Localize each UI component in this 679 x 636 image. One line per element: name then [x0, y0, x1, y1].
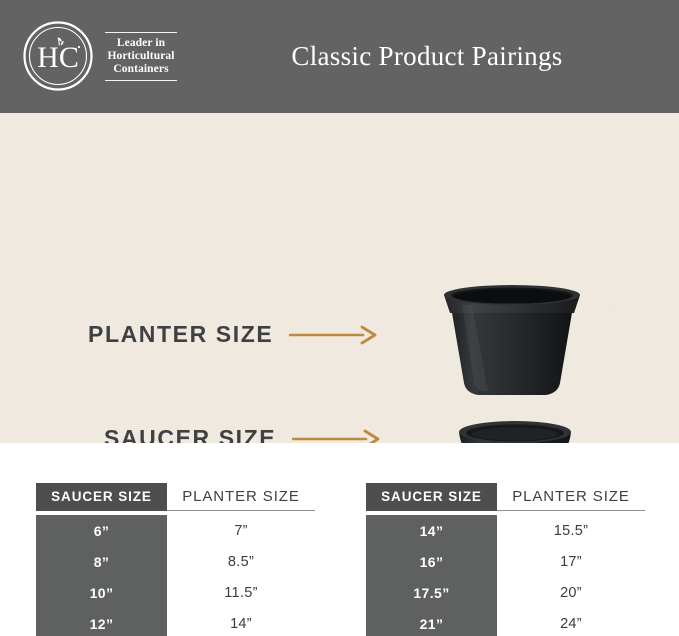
svg-text:HC: HC [37, 41, 79, 74]
brand-tagline-line-1: Leader in [107, 37, 174, 50]
cell-saucer-size: 6” [36, 515, 167, 546]
table-header-row: SAUCER SIZE PLANTER SIZE [36, 483, 315, 511]
saucer-dish-image [455, 418, 575, 443]
cell-saucer-size: 14” [366, 515, 497, 546]
brand-tagline-line-3: Containers [107, 63, 174, 76]
cell-saucer-size: 21” [366, 608, 497, 636]
cell-saucer-size: 8” [36, 546, 167, 577]
cell-saucer-size: 17.5” [366, 577, 497, 608]
brand-rule-bottom [105, 80, 177, 81]
table-row: 14” 15.5” [366, 515, 645, 546]
cell-saucer-size: 16” [366, 546, 497, 577]
size-table-right: SAUCER SIZE PLANTER SIZE 14” 15.5” 16” 1… [366, 483, 645, 636]
cell-planter-size: 14” [167, 608, 315, 636]
callout-saucer: SAUCER SIZE [104, 425, 382, 443]
brand-rule-top [105, 32, 177, 33]
header-bar: HC Leader in Horticultural Containers [0, 0, 679, 113]
pairings-table: SAUCER SIZE PLANTER SIZE 6” 7” 8” 8.5” [36, 483, 315, 636]
cell-saucer-size: 12” [36, 608, 167, 636]
hero-panel: PLANTER SIZE SAUCER SIZE [0, 113, 679, 443]
table-row: 17.5” 20” [366, 577, 645, 608]
product-pairings-infographic: HC Leader in Horticultural Containers [0, 0, 679, 636]
column-header-saucer-size: SAUCER SIZE [36, 483, 167, 511]
cell-planter-size: 15.5” [497, 515, 645, 546]
cell-planter-size: 8.5” [167, 546, 315, 577]
table-row: 16” 17” [366, 546, 645, 577]
cell-planter-size: 20” [497, 577, 645, 608]
column-header-saucer-size: SAUCER SIZE [366, 483, 497, 511]
cell-planter-size: 17” [497, 546, 645, 577]
size-table-left: SAUCER SIZE PLANTER SIZE 6” 7” 8” 8.5” [36, 483, 315, 636]
hc-logo-icon: HC [22, 20, 94, 92]
right-arrow-icon [289, 324, 379, 346]
cell-planter-size: 11.5” [167, 577, 315, 608]
table-row: 21” 24” [366, 608, 645, 636]
right-arrow-icon [292, 428, 382, 444]
table-row: 10” 11.5” [36, 577, 315, 608]
brand-tagline-line-2: Horticultural [107, 50, 174, 63]
table-header-row: SAUCER SIZE PLANTER SIZE [366, 483, 645, 511]
table-row: 8” 8.5” [36, 546, 315, 577]
column-header-planter-size: PLANTER SIZE [167, 483, 315, 511]
size-chart-section: SAUCER SIZE PLANTER SIZE 6” 7” 8” 8.5” [0, 443, 679, 636]
cell-planter-size: 7” [167, 515, 315, 546]
table-row: 6” 7” [36, 515, 315, 546]
callout-planter-label: PLANTER SIZE [88, 321, 273, 348]
callout-saucer-label: SAUCER SIZE [104, 425, 276, 443]
pairings-table: SAUCER SIZE PLANTER SIZE 14” 15.5” 16” 1… [366, 483, 645, 636]
brand-lockup: HC Leader in Horticultural Containers [22, 20, 177, 92]
brand-tagline: Leader in Horticultural Containers [105, 31, 177, 81]
cell-saucer-size: 10” [36, 577, 167, 608]
callout-planter: PLANTER SIZE [88, 321, 379, 348]
planter-pot-image [438, 281, 586, 406]
column-header-planter-size: PLANTER SIZE [497, 483, 645, 511]
cell-planter-size: 24” [497, 608, 645, 636]
table-row: 12” 14” [36, 608, 315, 636]
